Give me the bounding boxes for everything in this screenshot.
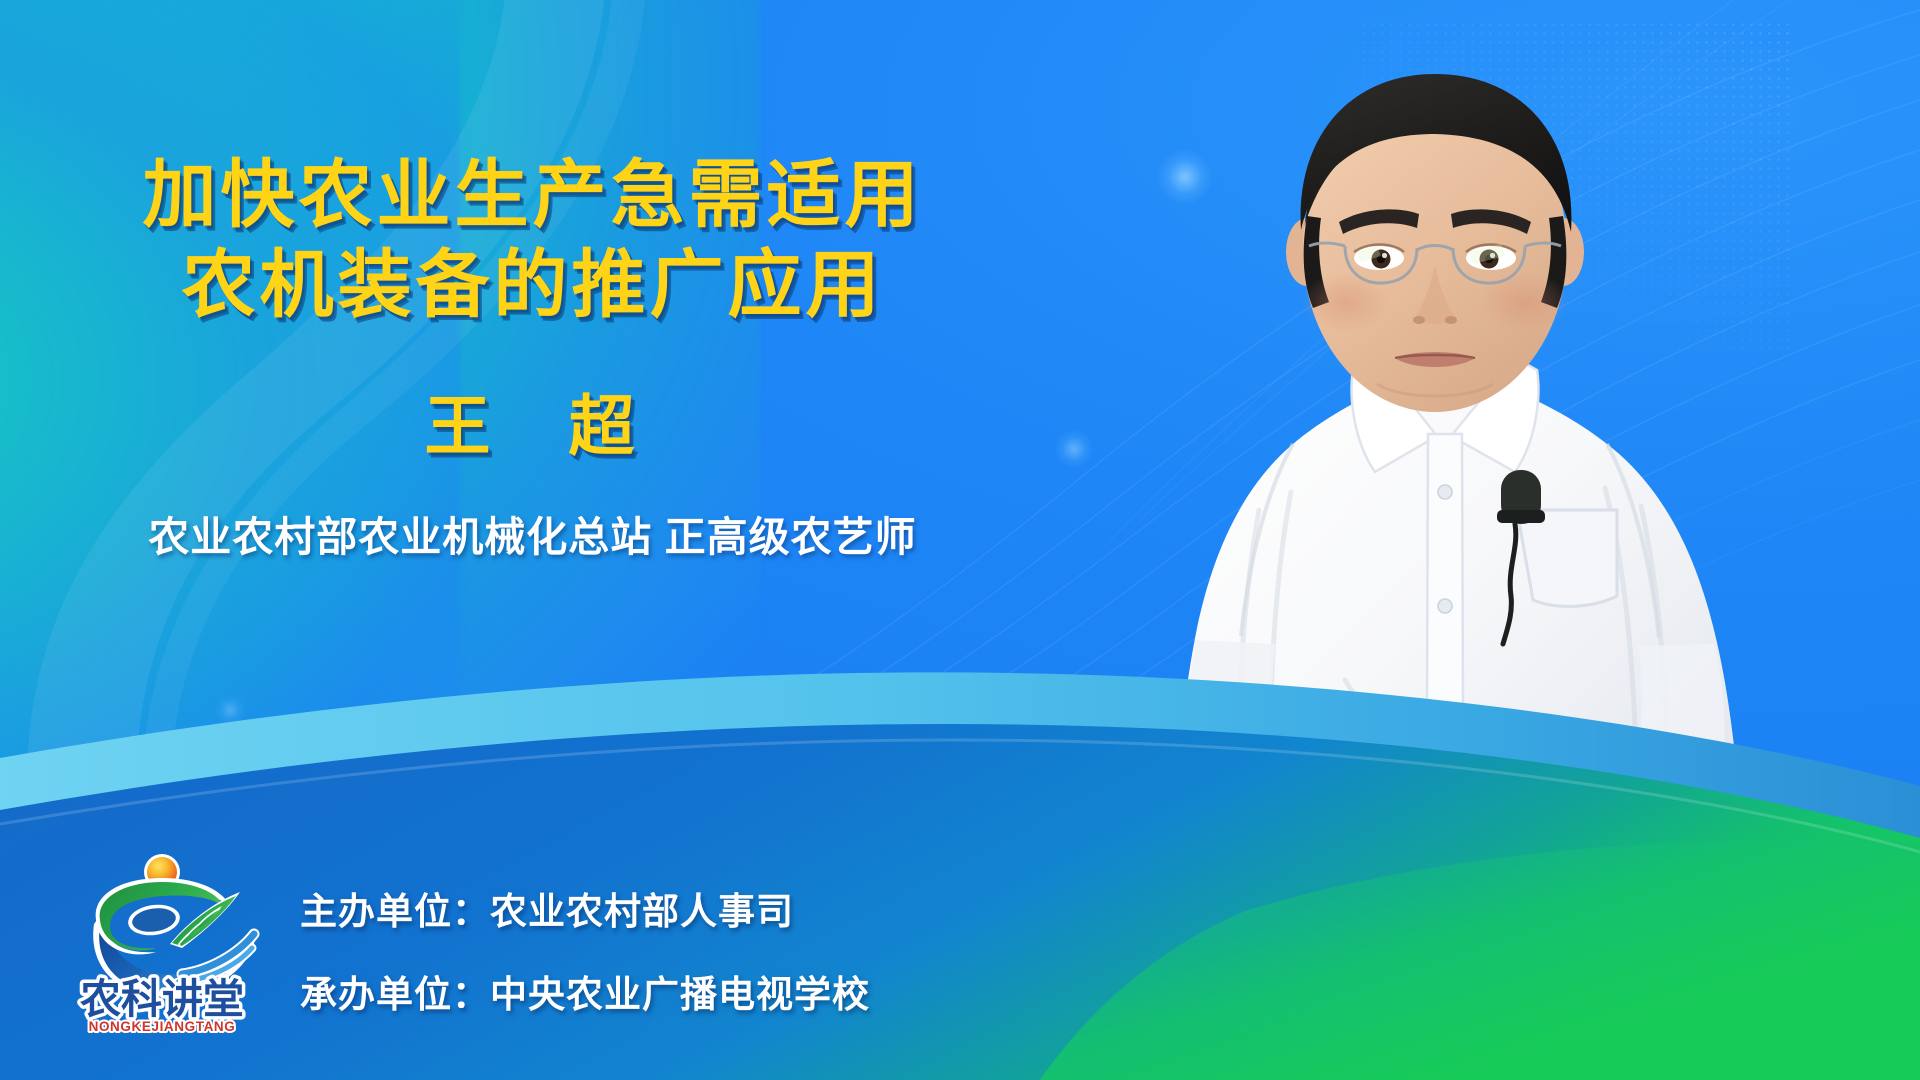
title-line-1: 加快农业生产急需适用	[0, 150, 1065, 240]
background-glow-dot-4	[215, 695, 245, 725]
logo-pinyin: NONGKEJIANGTANG	[89, 1019, 236, 1034]
forearm-right	[1637, 756, 1730, 970]
speaker-name: 王 超	[0, 373, 1065, 469]
shirt-pocket	[1517, 510, 1617, 606]
video-title-card: 加快农业生产急需适用 农机装备的推广应用 王 超 农业农村部农业机械化总站 正高…	[0, 0, 1920, 1080]
nongke-jiangtang-logo: 农科讲堂 农科讲堂 NONGKEJIANGTANG NONGKEJIANGTAN…	[62, 848, 262, 1036]
logo-wheat	[170, 892, 240, 948]
forearm-left	[1189, 748, 1281, 970]
speaker-affiliation: 农业农村部农业机械化总站 正高级农艺师	[0, 503, 1065, 563]
organizer-block: 主办单位：农业农村部人事司 承办单位：中央农业广播电视学校	[300, 893, 1200, 1013]
sleeve-cuff-left	[1189, 640, 1277, 756]
organizer-undertaker: 承办单位：中央农业广播电视学校	[300, 976, 1200, 1013]
organizer-host: 主办单位：农业农村部人事司	[300, 893, 1200, 930]
speaker-photo	[1045, 40, 1920, 970]
title-block: 加快农业生产急需适用 农机装备的推广应用 王 超 农业农村部农业机械化总站 正高…	[0, 150, 1065, 563]
shirt-placket	[1426, 434, 1464, 970]
sleeve-cuff-right	[1637, 644, 1725, 762]
logo-wordmark: 农科讲堂	[80, 976, 244, 1022]
title-line-2: 农机装备的推广应用	[0, 240, 1065, 330]
